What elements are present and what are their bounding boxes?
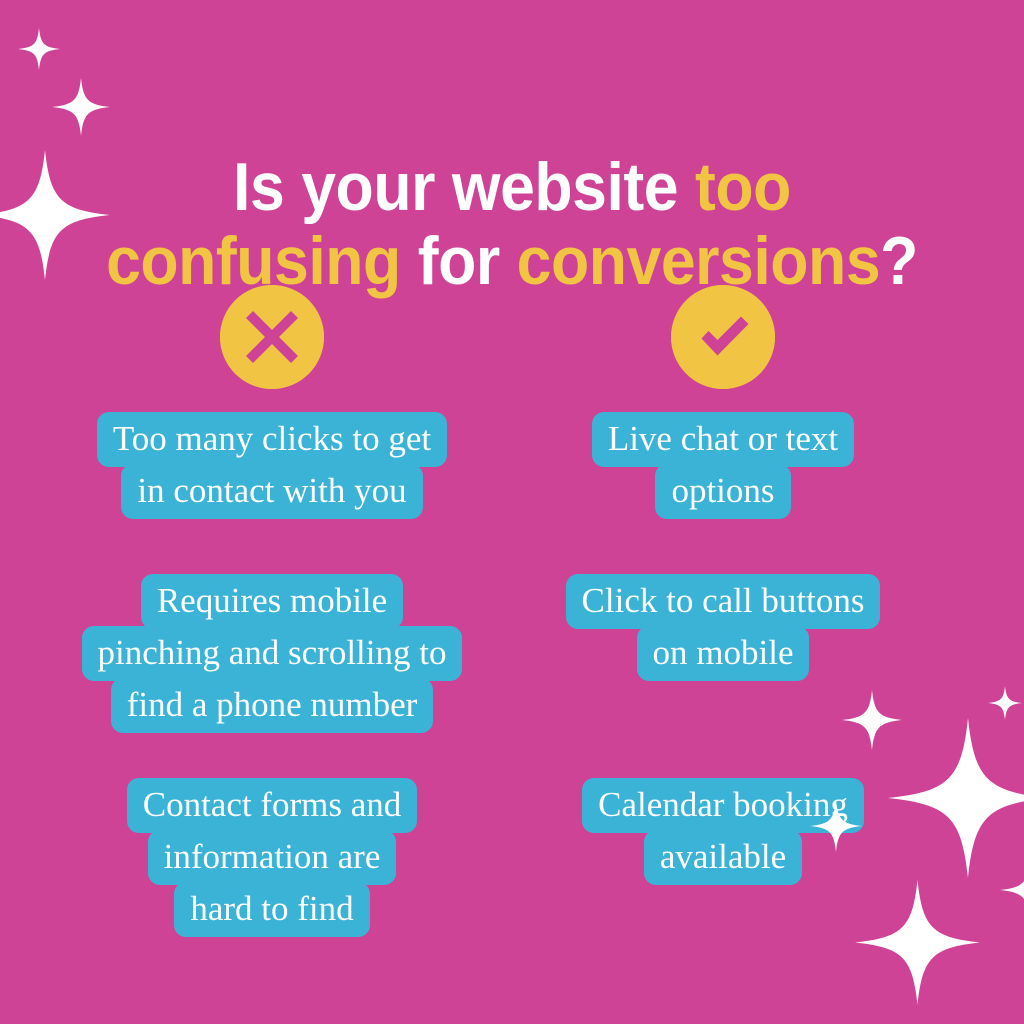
bullet-line: on mobile [637, 626, 810, 681]
sparkle-icon [52, 78, 110, 136]
sparkle-icon [855, 880, 980, 1005]
bullet-line: hard to find [174, 882, 369, 937]
bullet-item: Too many clicks to get in contact with y… [46, 412, 498, 519]
bullet-line: options [655, 464, 790, 519]
headline-seg: for [401, 223, 517, 299]
sparkle-icon [1000, 860, 1024, 920]
page-title: Is your website too confusing for conver… [41, 150, 983, 298]
bullet-group: Live chat or text options [497, 412, 949, 519]
headline-seg: too [695, 149, 791, 225]
bullet-line: available [644, 830, 802, 885]
bullet-group: Too many clicks to get in contact with y… [46, 412, 498, 519]
bullet-group: Click to call buttons on mobile [497, 574, 949, 681]
bullet-group: Contact forms and information are hard t… [46, 778, 498, 937]
column-solutions: Live chat or text options Click to call … [497, 285, 949, 389]
bullet-item: Click to call buttons on mobile [497, 574, 949, 681]
bullet-group: Calendar booking available [497, 778, 949, 885]
bullet-line: in contact with you [121, 464, 422, 519]
x-mark-circle-icon [220, 285, 324, 389]
headline-line-1: Is your website too [41, 150, 983, 224]
sparkle-icon [18, 28, 60, 70]
bullet-line: Live chat or text [592, 412, 854, 467]
bullet-line: pinching and scrolling to [82, 626, 463, 681]
bullet-item: Calendar booking available [497, 778, 949, 885]
bullet-line: Requires mobile [141, 574, 403, 629]
headline-seg: confusing [106, 223, 401, 299]
bullet-line: information are [148, 830, 397, 885]
headline-seg: ? [880, 223, 918, 299]
bullet-item: Requires mobile pinching and scrolling t… [46, 574, 498, 733]
headline-seg: Is your website [233, 149, 695, 225]
headline-seg: conversions [517, 223, 881, 299]
bullet-line: Click to call buttons [566, 574, 881, 629]
bullet-line: Contact forms and [127, 778, 418, 833]
column-problems: Too many clicks to get in contact with y… [46, 285, 498, 389]
bullet-item: Live chat or text options [497, 412, 949, 519]
sparkle-icon [988, 686, 1022, 720]
check-mark-circle-icon [671, 285, 775, 389]
bullet-group: Requires mobile pinching and scrolling t… [46, 574, 498, 733]
headline-line-2: confusing for conversions? [41, 224, 983, 298]
poster-canvas: Is your website too confusing for conver… [0, 0, 1024, 1024]
bullet-line: Calendar booking [582, 778, 864, 833]
sparkle-icon [842, 690, 902, 750]
bullet-line: Too many clicks to get [97, 412, 447, 467]
bullet-item: Contact forms and information are hard t… [46, 778, 498, 937]
bullet-line: find a phone number [111, 678, 434, 733]
